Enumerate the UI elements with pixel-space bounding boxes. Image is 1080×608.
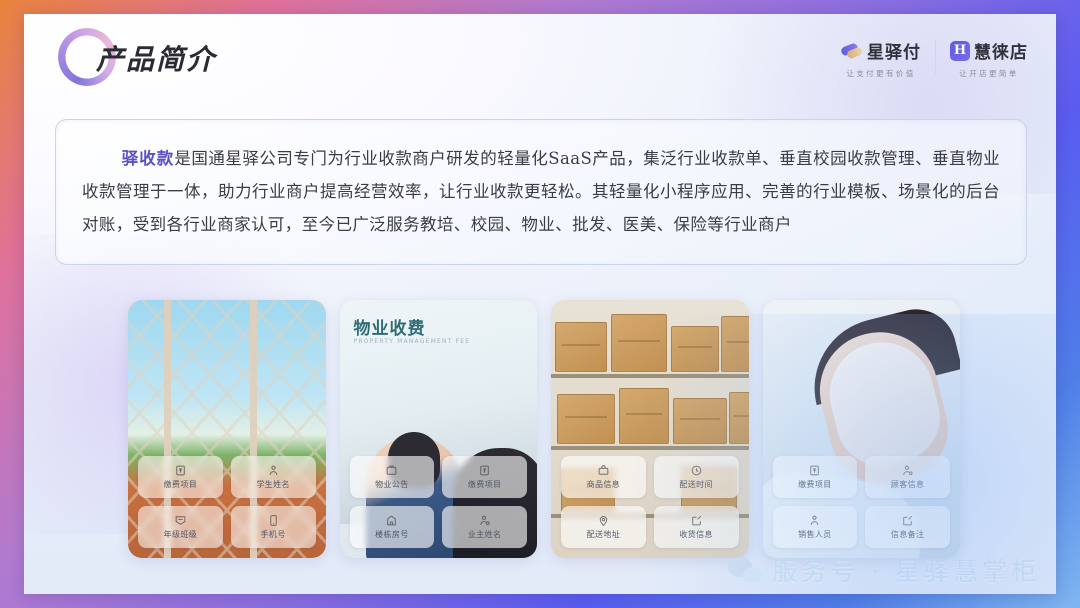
chip-receipt-info[interactable]: 收货信息 [654,506,739,548]
badge-icon [174,514,187,527]
chip-label: 手机号 [261,529,286,540]
chip-label: 配送时间 [679,479,713,490]
chip-label: 销售人员 [798,529,832,540]
building-icon [385,514,398,527]
logo-row: H 慧徕店 [950,38,1028,63]
chip-label: 顾客信息 [891,479,925,490]
slide-header: 产品简介 星驿付 让支付更有价值 H 慧徕店 让开店更简单 [24,14,1056,104]
chip-sales-person[interactable]: 销售人员 [773,506,858,548]
wechat-watermark: 服务号 · 星驿慧掌柜 [728,552,1040,588]
chip-label: 楼栋房号 [375,529,409,540]
chip-fee-item[interactable]: 缴费项目 [773,456,858,498]
photo-overlay-title: 物业收费 [354,314,426,339]
heart-card-icon [841,41,863,61]
chip-owner-name[interactable]: 业主姓名 [442,506,527,548]
edit-note-icon [901,514,914,527]
letter-h-icon: H [950,41,970,61]
logo-huilaidian: H 慧徕店 让开店更简单 [936,38,1042,79]
scene-card-campus[interactable]: 缴费项目 学生姓名 年级班级 手机号 [128,300,326,558]
customer-icon [901,464,914,477]
chip-label: 缴费项目 [164,479,198,490]
chip-label: 配送地址 [587,529,621,540]
logo-tagline: 让支付更有价值 [846,68,915,79]
watermark-text: 服务号 · 星驿慧掌柜 [772,552,1040,588]
goods-icon [597,464,610,477]
chip-label: 商品信息 [587,479,621,490]
chip-label: 缴费项目 [468,479,502,490]
intro-paragraph: 驿收款是国通星驿公司专门为行业收款商户研发的轻量化SaaS产品，集泛行业收款单、… [56,120,1026,241]
photo-overlay-subtitle: PROPERTY MANAGEMENT FEE [354,338,471,345]
student-icon [267,464,280,477]
sales-person-icon [808,514,821,527]
chip-grade-class[interactable]: 年级班级 [138,506,223,548]
chip-announcement[interactable]: 物业公告 [350,456,435,498]
intro-text-card: 驿收款是国通星驿公司专门为行业收款商户研发的轻量化SaaS产品，集泛行业收款单、… [55,119,1027,265]
chip-grid: 物业公告 缴费项目 楼栋房号 业主姓名 [350,456,528,548]
chip-fee-item[interactable]: 缴费项目 [138,456,223,498]
fee-item-icon [808,464,821,477]
logo-tagline: 让开店更简单 [959,68,1018,79]
chip-label: 信息备注 [891,529,925,540]
location-icon [597,514,610,527]
scene-card-property[interactable]: 物业收费 PROPERTY MANAGEMENT FEE 物业公告 缴费项目 楼… [340,300,538,558]
chip-building-room[interactable]: 楼栋房号 [350,506,435,548]
chip-label: 业主姓名 [468,529,502,540]
owner-icon [478,514,491,527]
chip-label: 收货信息 [679,529,713,540]
intro-body: 是国通星驿公司专门为行业收款商户研发的轻量化SaaS产品，集泛行业收款单、垂直校… [82,149,1000,234]
chip-student-name[interactable]: 学生姓名 [231,456,316,498]
scene-card-row: 缴费项目 学生姓名 年级班级 手机号 物业收费 PROP [128,300,960,558]
scene-card-medical-beauty[interactable]: 缴费项目 顾客信息 销售人员 信息备注 [763,300,961,558]
fee-item-icon [478,464,491,477]
chip-fee-item[interactable]: 缴费项目 [442,456,527,498]
chip-label: 年级班级 [164,529,198,540]
chip-delivery-time[interactable]: 配送时间 [654,456,739,498]
wechat-icon [728,557,762,583]
page-title: 产品简介 [96,38,216,78]
clock-icon [690,464,703,477]
logo-xingyifu: 星驿付 让支付更有价值 [827,38,935,79]
chip-label: 学生姓名 [256,479,290,490]
chip-goods-info[interactable]: 商品信息 [561,456,646,498]
logo-name: 星驿付 [867,38,921,63]
announcement-icon [385,464,398,477]
edit-note-icon [690,514,703,527]
chip-label: 缴费项目 [798,479,832,490]
chip-grid: 缴费项目 学生姓名 年级班级 手机号 [138,456,316,548]
chip-grid: 缴费项目 顾客信息 销售人员 信息备注 [773,456,951,548]
chip-label: 物业公告 [375,479,409,490]
slide-canvas: 产品简介 星驿付 让支付更有价值 H 慧徕店 让开店更简单 [24,14,1056,594]
chip-info-remark[interactable]: 信息备注 [865,506,950,548]
chip-phone-number[interactable]: 手机号 [231,506,316,548]
brand-name: 驿收款 [122,149,175,168]
scene-card-wholesale[interactable]: 商品信息 配送时间 配送地址 收货信息 [551,300,749,558]
chip-customer-info[interactable]: 顾客信息 [865,456,950,498]
logo-row: 星驿付 [841,38,921,63]
chip-grid: 商品信息 配送时间 配送地址 收货信息 [561,456,739,548]
logo-name: 慧徕店 [974,38,1028,63]
phone-icon [267,514,280,527]
chip-delivery-address[interactable]: 配送地址 [561,506,646,548]
logo-area: 星驿付 让支付更有价值 H 慧徕店 让开店更简单 [827,38,1042,79]
fee-item-icon [174,464,187,477]
